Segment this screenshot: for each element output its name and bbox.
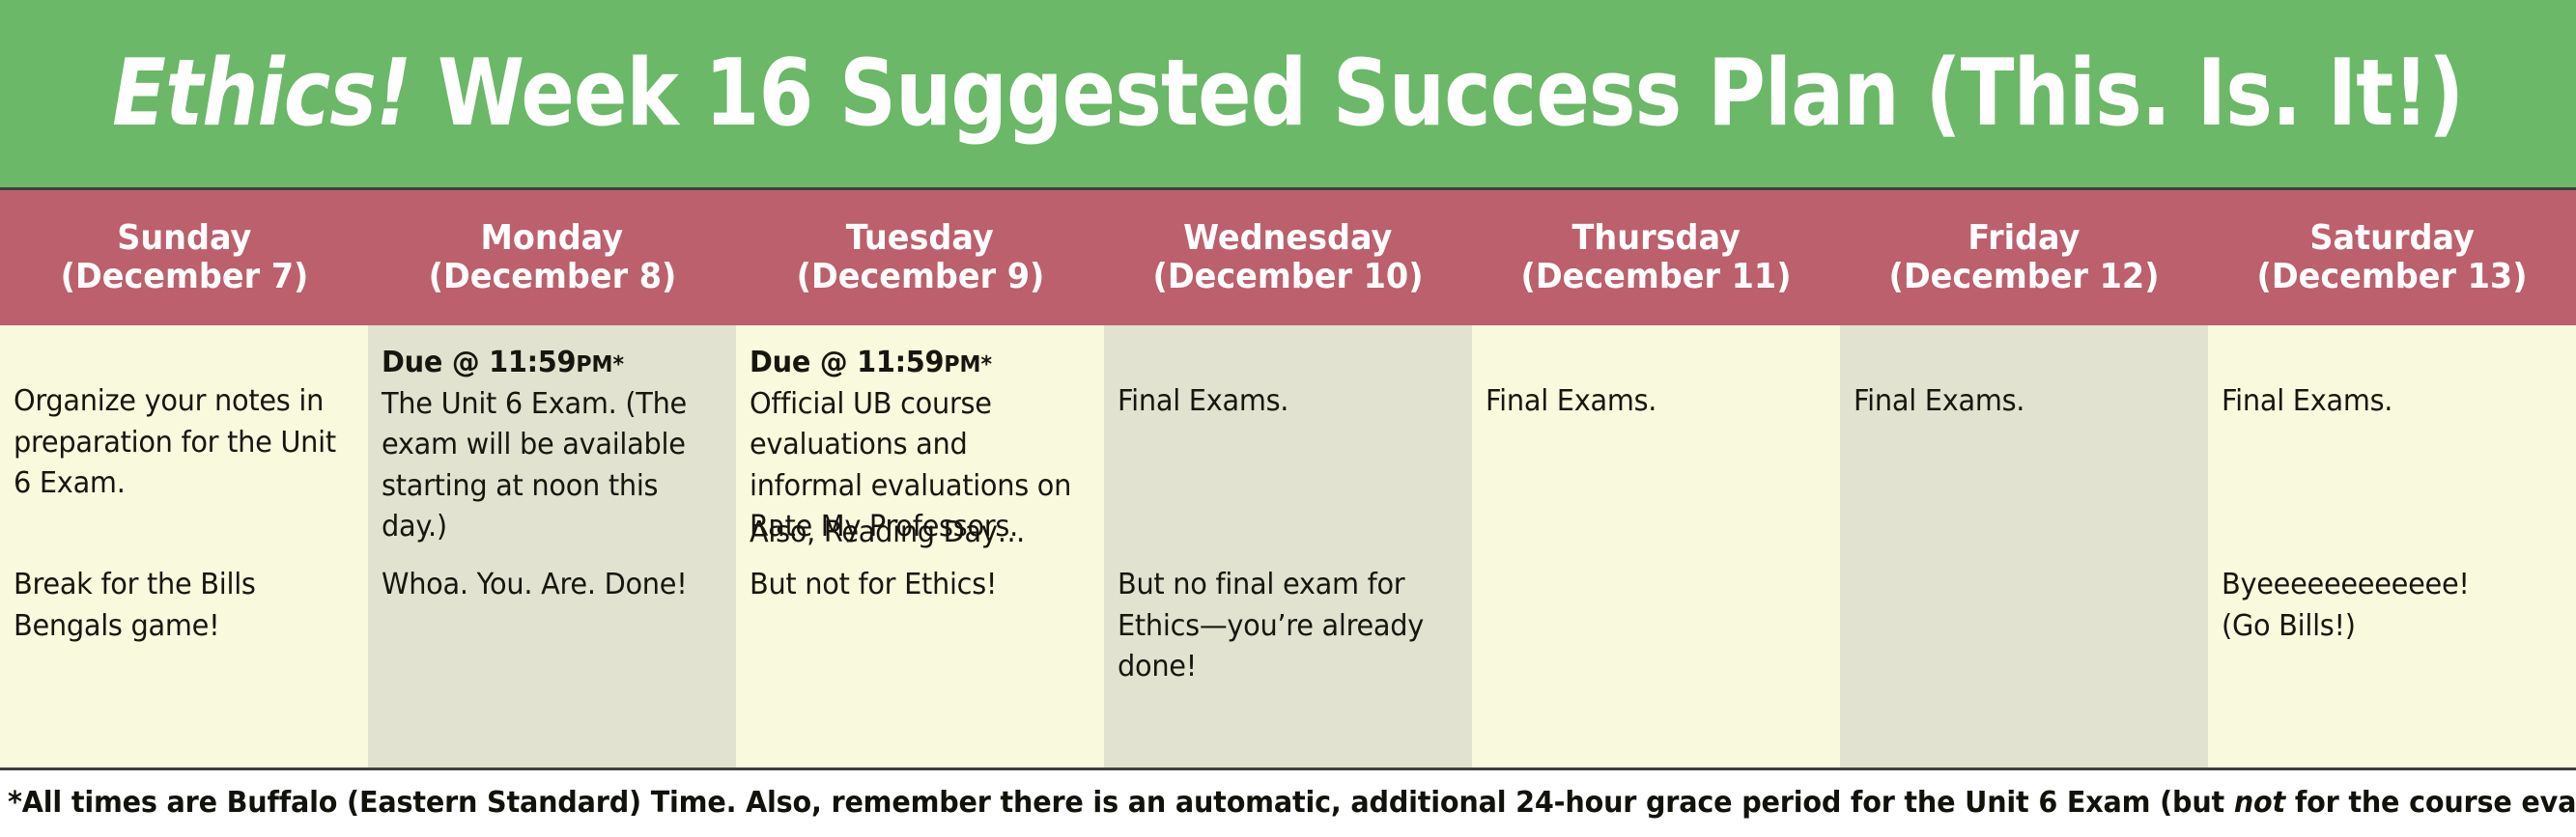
- day-date: (December 10): [1153, 258, 1424, 296]
- day-name: Saturday: [2309, 219, 2474, 258]
- due-label-time: Due @ 11:59: [750, 346, 944, 379]
- day-date: (December 11): [1521, 258, 1792, 296]
- footnote-bar: *All times are Buffalo (Eastern Standard…: [0, 770, 2576, 834]
- page-title-rest: Week 16 Suggested Success Plan (This. Is…: [411, 41, 2464, 147]
- cell-bottom-text: Whoa. You. Are. Done!: [382, 565, 711, 606]
- cell-top-text: Organize your notes in preparation for t…: [14, 381, 343, 505]
- cell-bottom-text: Break for the Bills Bengals game!: [14, 565, 343, 647]
- poster-title-band: Ethics! Week 16 Suggested Success Plan (…: [0, 0, 2576, 190]
- plan-cell-thursday: Final Exams.: [1472, 325, 1840, 767]
- due-label: Due @ 11:59PM*: [750, 343, 1079, 384]
- footnote-part1: *All times are Buffalo (Eastern Standard…: [8, 786, 2234, 820]
- cell-top-text: Final Exams.: [1486, 381, 1815, 423]
- day-header-row: Sunday (December 7) Monday (December 8) …: [0, 190, 2576, 325]
- day-name: Thursday: [1571, 219, 1740, 258]
- day-name: Friday: [1967, 219, 2080, 258]
- plan-cell-monday: Due @ 11:59PM* The Unit 6 Exam. (The exa…: [368, 325, 736, 767]
- day-date: (December 8): [428, 258, 676, 296]
- day-name: Tuesday: [846, 219, 994, 258]
- cell-bottom-text: Byeeeeeeeeeeee! (Go Bills!): [2222, 565, 2551, 647]
- day-header-saturday: Saturday (December 13): [2208, 190, 2576, 325]
- cell-mid-text: Also, Reading Day…: [750, 513, 1079, 554]
- plan-body-row: Organize your notes in preparation for t…: [0, 325, 2576, 770]
- day-date: (December 9): [796, 258, 1044, 296]
- cell-top-text: Final Exams.: [1854, 381, 2183, 423]
- due-label: Due @ 11:59PM*: [382, 343, 711, 384]
- due-label-suffix: PM*: [576, 352, 624, 377]
- plan-cell-friday: Final Exams.: [1840, 325, 2208, 767]
- footnote-italic-word: not: [2234, 786, 2285, 820]
- day-header-tuesday: Tuesday (December 9): [736, 190, 1104, 325]
- plan-cell-wednesday: Final Exams. But no final exam for Ethic…: [1104, 325, 1472, 767]
- page-title-emphasis: Ethics!: [112, 41, 410, 147]
- day-name: Wednesday: [1183, 219, 1392, 258]
- cell-top-text: Final Exams.: [2222, 381, 2551, 423]
- plan-cell-tuesday: Due @ 11:59PM* Official UB course evalua…: [736, 325, 1104, 767]
- due-label-time: Due @ 11:59: [382, 346, 576, 379]
- footnote-part2: for the course evaluations). Go Bills!: [2285, 786, 2576, 820]
- day-date: (December 7): [60, 258, 308, 296]
- day-header-friday: Friday (December 12): [1840, 190, 2208, 325]
- day-date: (December 13): [2257, 258, 2528, 296]
- success-plan-poster: Ethics! Week 16 Suggested Success Plan (…: [0, 0, 2576, 837]
- footnote-text: *All times are Buffalo (Eastern Standard…: [8, 787, 2576, 819]
- day-header-thursday: Thursday (December 11): [1472, 190, 1840, 325]
- day-header-sunday: Sunday (December 7): [0, 190, 368, 325]
- cell-top-text: The Unit 6 Exam. (The exam will be avail…: [382, 384, 711, 548]
- day-date: (December 12): [1889, 258, 2160, 296]
- due-label-suffix: PM*: [944, 352, 992, 377]
- plan-cell-saturday: Final Exams. Byeeeeeeeeeeee! (Go Bills!): [2208, 325, 2576, 767]
- day-header-wednesday: Wednesday (December 10): [1104, 190, 1472, 325]
- cell-bottom-text: But not for Ethics!: [750, 565, 1079, 606]
- plan-cell-sunday: Organize your notes in preparation for t…: [0, 325, 368, 767]
- page-title: Ethics! Week 16 Suggested Success Plan (…: [112, 48, 2463, 140]
- cell-top-text: Final Exams.: [1118, 381, 1447, 423]
- cell-bottom-text: But no final exam for Ethics—you’re alre…: [1118, 565, 1447, 688]
- day-name: Monday: [481, 219, 624, 258]
- day-name: Sunday: [117, 219, 251, 258]
- day-header-monday: Monday (December 8): [368, 190, 736, 325]
